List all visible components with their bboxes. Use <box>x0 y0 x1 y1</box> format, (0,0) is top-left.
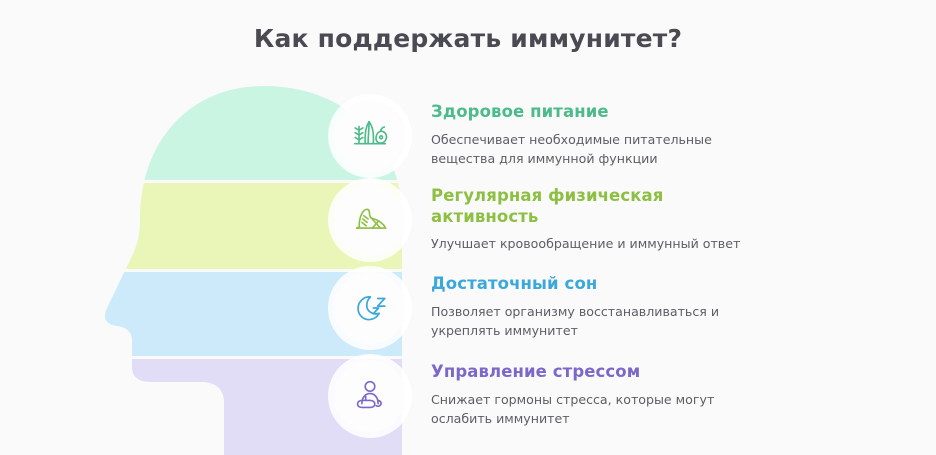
list-item-title: Здоровое питание <box>431 102 771 123</box>
list-item-text: Регулярная физическая активность Улучшае… <box>431 186 771 254</box>
list-item-description: Позволяет организму восстанавливаться и … <box>431 302 761 341</box>
plant-vegetable-icon <box>334 100 406 172</box>
list-item-text: Здоровое питание Обеспечивает необходимы… <box>431 102 771 169</box>
list-item-description: Улучшает кровообращение и иммунный ответ <box>431 234 761 254</box>
list-item-description: Обеспечивает необходимые питательные вещ… <box>431 130 761 169</box>
list-item-title: Управление стрессом <box>431 362 771 383</box>
items-list: Здоровое питание Обеспечивает необходимы… <box>0 0 936 455</box>
meditation-person-icon <box>334 360 406 432</box>
running-shoe-icon <box>334 184 406 256</box>
list-item-text: Достаточный сон Позволяет организму восс… <box>431 274 771 341</box>
infographic-root: Как поддержать иммунитет? <box>0 0 936 455</box>
list-item-text: Управление стрессом Снижает гормоны стре… <box>431 362 771 429</box>
list-item-title: Регулярная физическая активность <box>431 186 771 227</box>
list-item-title: Достаточный сон <box>431 274 771 295</box>
list-item-description: Снижает гормоны стресса, которые могут о… <box>431 390 761 429</box>
moon-sleep-icon <box>334 272 406 344</box>
